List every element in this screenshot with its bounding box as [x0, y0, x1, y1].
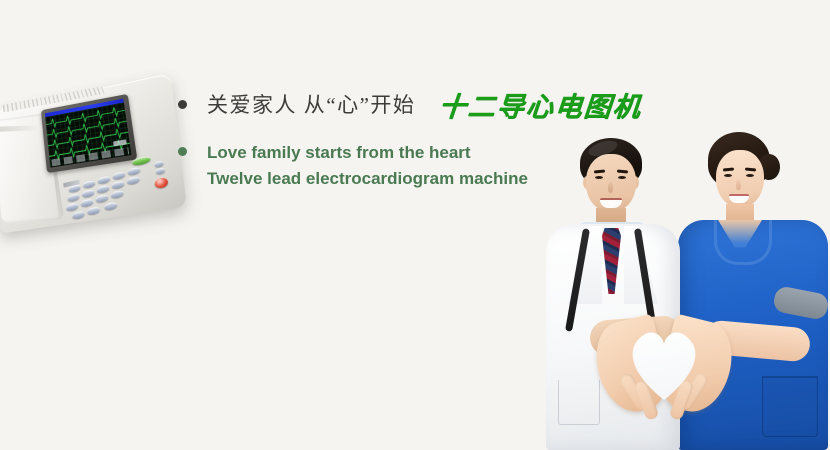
key-r2c5[interactable] [127, 176, 141, 185]
nav-key-down[interactable] [155, 167, 165, 174]
nurse-scrub-pocket [762, 376, 818, 437]
bullet-dot-icon [178, 100, 187, 109]
doctor-eye-left [595, 176, 603, 179]
device-lcd-screen [45, 99, 132, 168]
stop-key[interactable] [154, 176, 169, 189]
nurse-eye-left [724, 174, 732, 177]
key-r2c4[interactable] [111, 180, 124, 189]
key-r1c4[interactable] [112, 171, 125, 180]
doctor-coat-pocket [558, 380, 600, 425]
nurse-collar-trim [714, 220, 772, 265]
key-r3c3[interactable] [96, 194, 109, 203]
key-r2c1[interactable] [67, 193, 79, 202]
english-line-1: Love family starts from the heart [207, 140, 528, 166]
nurse-smile [729, 194, 749, 203]
key-r3c2[interactable] [81, 198, 94, 207]
key-r1c1[interactable] [69, 184, 81, 193]
medical-staff-photo [520, 128, 830, 450]
english-copy: Love family starts from the heart Twelve… [207, 140, 528, 192]
headline-chinese: 关爱家人 从“心”开始 [207, 89, 415, 119]
heart-hands-gesture [598, 314, 730, 434]
product-banner: 关爱家人 从“心”开始 十二导心电图机 Love family starts f… [0, 0, 830, 450]
key-r1c3[interactable] [98, 176, 111, 185]
key-r4c1[interactable] [72, 210, 85, 219]
key-r4c2[interactable] [87, 206, 100, 215]
product-name-chinese: 十二导心电图机 [438, 85, 644, 124]
key-r2c2[interactable] [82, 189, 95, 198]
doctor-eye-right [618, 176, 626, 179]
nav-key-up[interactable] [154, 160, 164, 167]
key-r4c3[interactable] [104, 202, 117, 211]
bullet-dot-green-icon [178, 147, 187, 156]
key-r1c5[interactable] [127, 167, 140, 176]
key-r3c4[interactable] [111, 190, 124, 199]
key-r2c3[interactable] [97, 185, 110, 194]
doctor-nose [608, 182, 613, 193]
key-r3c1[interactable] [66, 203, 78, 212]
key-r1c2[interactable] [83, 180, 95, 189]
headline-row: 关爱家人 从“心”开始 十二导心电图机 [178, 84, 718, 124]
nurse-nose [736, 180, 741, 190]
nurse-eye-right [746, 174, 754, 177]
ecg-machine-image [0, 77, 190, 239]
english-line-2: Twelve lead electrocardiogram machine [207, 166, 528, 192]
